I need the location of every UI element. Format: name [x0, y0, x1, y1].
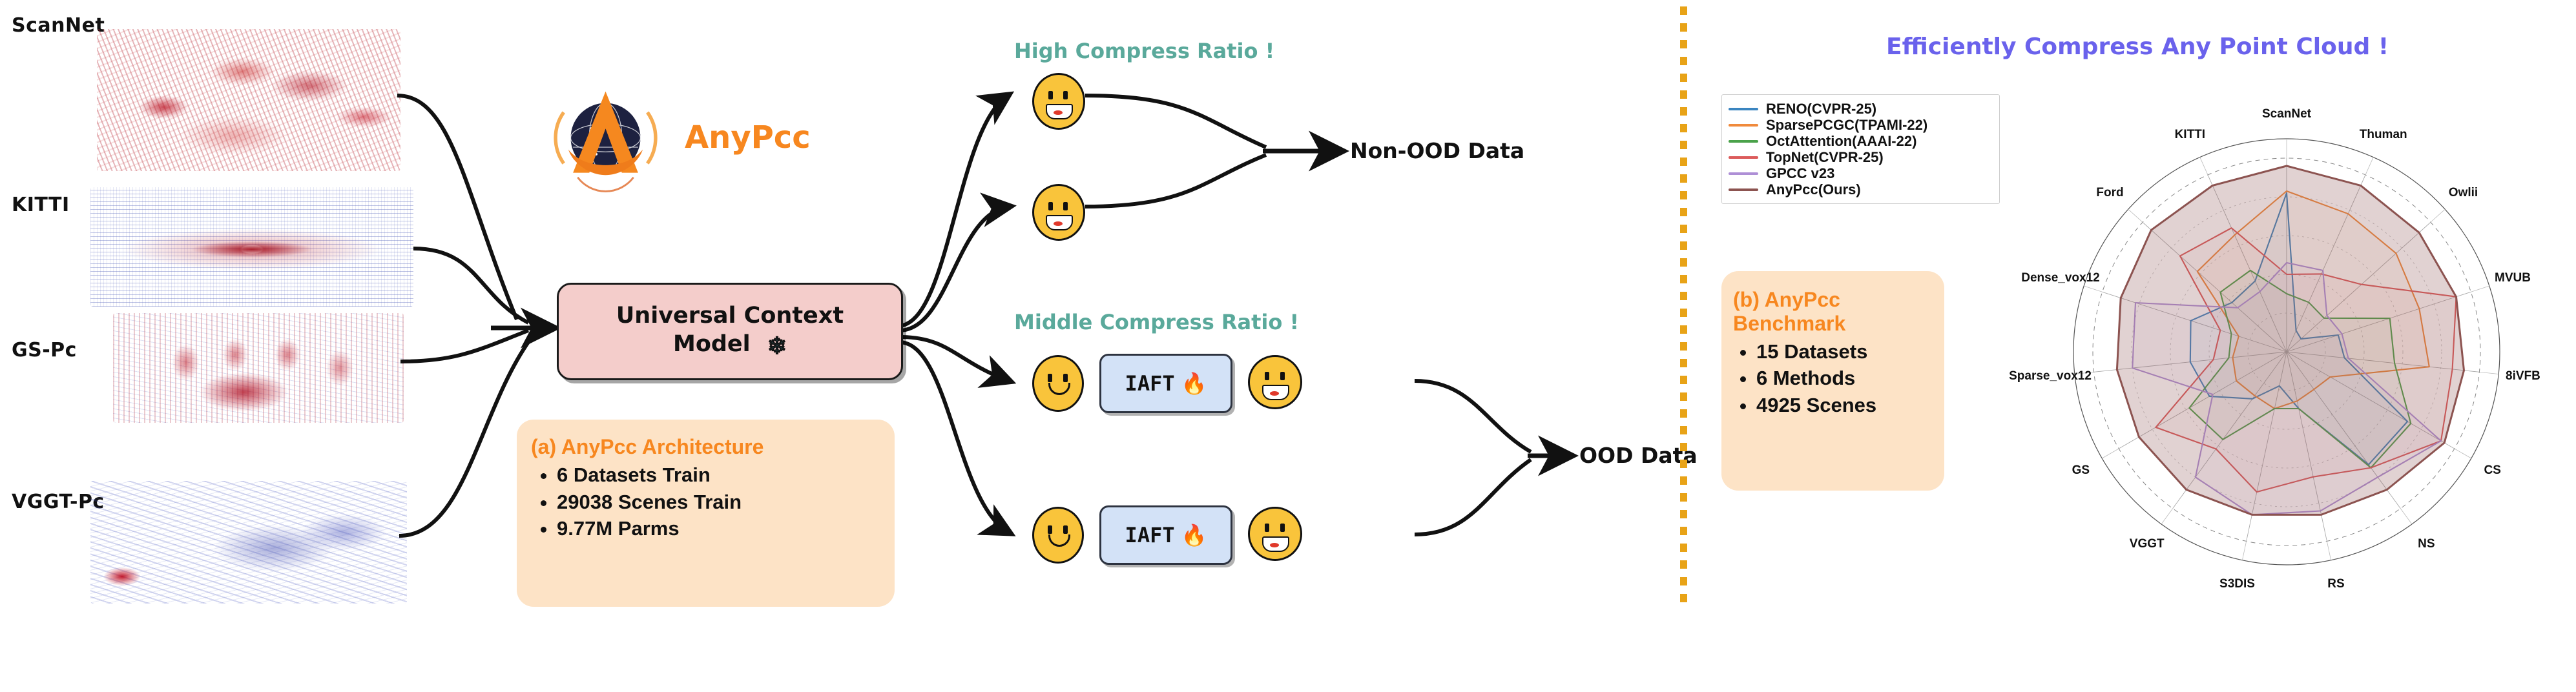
output-non-ood-label: Non-OOD Data	[1350, 138, 1524, 163]
happy-face-icon-4	[1248, 507, 1302, 561]
legend-label-sparsepcgc: SparsePCGC(TPAMI-22)	[1766, 117, 1927, 134]
legend-item-octattention[interactable]: OctAttention(AAAI-22)	[1729, 133, 1990, 149]
anypcc-architecture-card: (a) AnyPcc Architecture 6 Datasets Train…	[517, 420, 895, 607]
legend-swatch-topnet	[1729, 156, 1758, 159]
radar-axis-label-8ivfb: 8iVFB	[2506, 369, 2540, 383]
legend-item-reno[interactable]: RENO(CVPR-25)	[1729, 101, 1990, 117]
radar-chart: ScanNetThumanOwliiMVUB8iVFBCSNSRSS3DISVG…	[2002, 61, 2571, 629]
legend-swatch-anypcc	[1729, 188, 1758, 191]
card-b-bullet-3: 4925 Scenes	[1756, 392, 1934, 419]
happy-face-icon-3	[1248, 355, 1302, 409]
radar-axis-label-rs: RS	[2327, 577, 2344, 591]
smiling-face-icon-1	[1032, 355, 1084, 412]
legend-swatch-gpcc	[1729, 172, 1758, 175]
middle-compress-ratio-label: Middle Compress Ratio !	[1014, 310, 1299, 334]
iaft-box-1[interactable]: IAFT 🔥	[1099, 354, 1232, 413]
model-box-line2: Model	[673, 331, 751, 357]
right-panel-title: Efficiently Compress Any Point Cloud !	[1886, 34, 2389, 60]
anypcc-logo-icon	[546, 77, 665, 194]
radar-axis-label-kitti: KITTI	[2175, 128, 2206, 142]
point-cloud-scannet-image	[97, 29, 400, 171]
card-a-title: (a) AnyPcc Architecture	[531, 435, 882, 459]
radar-axis-label-sparse_vox12: Sparse_vox12	[2009, 369, 2092, 383]
legend-label-topnet: TopNet(CVPR-25)	[1766, 149, 1884, 166]
radar-axis-label-vggt: VGGT	[2130, 537, 2165, 551]
legend-label-octattention: OctAttention(AAAI-22)	[1766, 133, 1916, 150]
legend-item-gpcc[interactable]: GPCC v23	[1729, 165, 1990, 181]
iaft-label-1: IAFT	[1125, 371, 1175, 396]
card-b-title: (b) AnyPcc Benchmark	[1733, 288, 1934, 336]
card-a-bullet-1: 6 Datasets Train	[557, 462, 882, 489]
model-box-line1: Universal Context	[616, 303, 844, 329]
card-b-bullet-1: 15 Datasets	[1756, 338, 1934, 365]
fire-icon-1: 🔥	[1181, 373, 1207, 394]
radar-axis-label-owlii: Owlii	[2449, 186, 2478, 200]
fire-icon-2: 🔥	[1181, 525, 1207, 545]
legend-label-anypcc: AnyPcc(Ours)	[1766, 181, 1861, 198]
radar-axis-label-thuman: Thuman	[2360, 128, 2407, 142]
card-a-bullet-3: 9.77M Parms	[557, 515, 882, 542]
iaft-label-2: IAFT	[1125, 523, 1175, 547]
universal-context-model-box[interactable]: Universal Context Model ❄	[557, 283, 903, 380]
iaft-box-2[interactable]: IAFT 🔥	[1099, 505, 1232, 565]
legend-item-sparsepcgc[interactable]: SparsePCGC(TPAMI-22)	[1729, 117, 1990, 133]
legend-swatch-reno	[1729, 108, 1758, 110]
radar-axis-label-cs: CS	[2484, 463, 2500, 478]
happy-face-icon-2	[1032, 184, 1085, 241]
anypcc-benchmark-card: (b) AnyPcc Benchmark 15 Datasets 6 Metho…	[1721, 271, 1944, 491]
legend-swatch-sparsepcgc	[1729, 124, 1758, 127]
dataset-label-gs-pc: GS-Pc	[12, 339, 77, 361]
card-b-bullet-2: 6 Methods	[1756, 365, 1934, 392]
snowflake-icon: ❄	[767, 332, 787, 361]
radar-axis-label-scannet: ScanNet	[2262, 107, 2311, 121]
dataset-label-kitti: KITTI	[12, 194, 70, 216]
card-a-bullets: 6 Datasets Train 29038 Scenes Train 9.77…	[531, 462, 882, 543]
radar-axis-label-dense_vox12: Dense_vox12	[2021, 271, 2099, 285]
chart-legend: RENO(CVPR-25) SparsePCGC(TPAMI-22) OctAt…	[1721, 94, 2000, 204]
legend-label-gpcc: GPCC v23	[1766, 165, 1834, 182]
radar-axis-label-mvub: MVUB	[2495, 271, 2531, 285]
point-cloud-gs-image	[113, 313, 404, 423]
radar-axis-label-gs: GS	[2072, 463, 2090, 478]
brand-name: AnyPcc	[685, 119, 811, 156]
happy-face-icon-1	[1032, 73, 1085, 130]
legend-item-anypcc[interactable]: AnyPcc(Ours)	[1729, 181, 1990, 198]
point-cloud-vggt-image	[90, 481, 407, 604]
legend-item-topnet[interactable]: TopNet(CVPR-25)	[1729, 149, 1990, 165]
legend-swatch-octattention	[1729, 140, 1758, 143]
radar-axis-label-s3dis: S3DIS	[2219, 577, 2255, 591]
card-a-bullet-2: 29038 Scenes Train	[557, 489, 882, 516]
dataset-label-scannet: ScanNet	[12, 14, 105, 37]
radar-axis-label-ford: Ford	[2096, 186, 2123, 200]
legend-label-reno: RENO(CVPR-25)	[1766, 101, 1876, 117]
smiling-face-icon-2	[1032, 507, 1084, 564]
card-b-bullets: 15 Datasets 6 Methods 4925 Scenes	[1733, 338, 1934, 420]
high-compress-ratio-label: High Compress Ratio !	[1014, 39, 1274, 63]
radar-axis-label-ns: NS	[2418, 537, 2435, 551]
panel-divider	[1680, 6, 1687, 607]
point-cloud-kitti-image	[90, 187, 413, 307]
